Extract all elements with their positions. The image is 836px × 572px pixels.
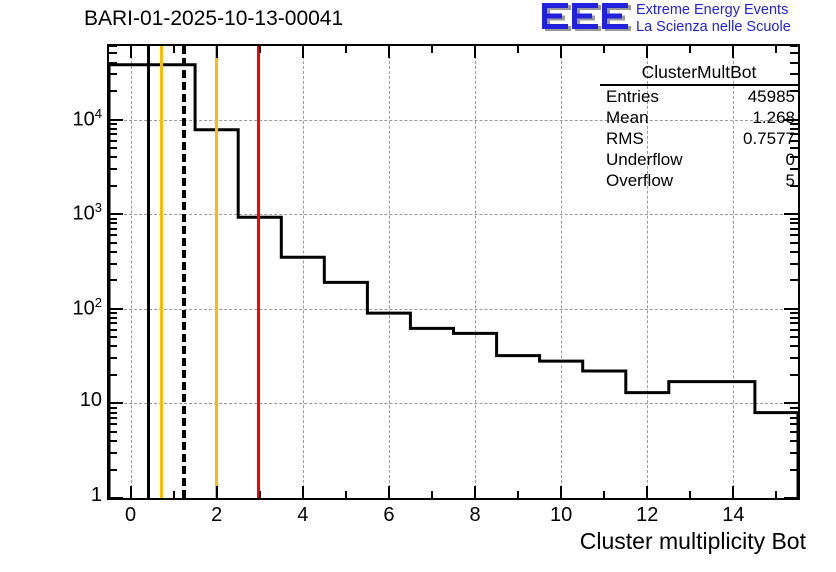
- x-tick-1: [173, 491, 175, 498]
- x-tick-14: [732, 486, 734, 498]
- x-tick-11: [603, 491, 605, 498]
- y-minor-tick-right: [790, 431, 798, 433]
- y-axis-tick-label: 10: [17, 389, 102, 412]
- y-tick-right-1e2: [784, 308, 798, 310]
- y-tick-1e3: [109, 213, 123, 215]
- x-tick-top-1: [173, 46, 175, 53]
- x-tick-8: [474, 486, 476, 498]
- y-minor-tick-right: [790, 263, 798, 265]
- stats-row-value: 5: [786, 170, 795, 191]
- y-minor-tick-right: [790, 407, 798, 409]
- y-minor-tick-right: [790, 322, 798, 324]
- y-minor-tick: [109, 222, 117, 224]
- y-minor-tick: [109, 440, 117, 442]
- y-minor-tick-right: [790, 228, 798, 230]
- y-tick-right-1e3: [784, 213, 798, 215]
- y-minor-tick: [109, 407, 117, 409]
- y-minor-tick: [109, 228, 117, 230]
- eee-logo-text: Extreme Energy Events La Scienza nelle S…: [636, 2, 836, 36]
- stats-row-value: 0.7577: [743, 128, 795, 149]
- x-tick-6: [388, 486, 390, 498]
- y-minor-tick-right: [790, 357, 798, 359]
- y-minor-tick: [109, 431, 117, 433]
- y-minor-tick-right: [790, 417, 798, 419]
- eee-logo-line1: Extreme Energy Events: [636, 2, 836, 19]
- y-minor-tick-right: [790, 423, 798, 425]
- y-minor-tick-right: [790, 452, 798, 454]
- x-tick-top-13: [689, 46, 691, 53]
- x-axis-tick-label: 2: [192, 504, 242, 527]
- x-tick-13: [689, 491, 691, 498]
- stats-row-key: Entries: [606, 86, 659, 107]
- y-minor-tick-right: [790, 251, 798, 253]
- y-minor-tick-right: [790, 336, 798, 338]
- y-minor-tick: [109, 133, 117, 135]
- stats-row: Mean1.268: [600, 107, 798, 128]
- x-tick-top-2: [216, 46, 218, 58]
- y-minor-tick: [109, 423, 117, 425]
- y-tick-1e0: [109, 497, 123, 499]
- y-minor-tick: [109, 317, 117, 319]
- x-axis-tick-label: 14: [708, 504, 758, 527]
- y-minor-tick: [109, 234, 117, 236]
- eee-logo-line2: La Scienza nelle Scuole: [636, 19, 836, 36]
- y-minor-tick-right: [790, 52, 798, 54]
- y-minor-tick: [109, 279, 117, 281]
- x-tick-top-4: [302, 46, 304, 58]
- y-minor-tick-right: [790, 312, 798, 314]
- y-minor-tick: [109, 336, 117, 338]
- y-minor-tick: [109, 156, 117, 158]
- stats-box: ClusterMultBot Entries45985Mean1.268RMS0…: [600, 62, 798, 191]
- y-minor-tick-right: [790, 45, 798, 47]
- stats-row-key: RMS: [606, 128, 644, 149]
- y-minor-tick: [109, 452, 117, 454]
- page-title: BARI-01-2025-10-13-00041: [84, 7, 343, 31]
- y-minor-tick: [109, 242, 117, 244]
- y-minor-tick: [109, 251, 117, 253]
- stats-row: Underflow0: [600, 149, 798, 170]
- y-minor-tick: [109, 417, 117, 419]
- y-minor-tick: [109, 345, 117, 347]
- x-axis-title: Cluster multiplicity Bot: [580, 528, 806, 555]
- y-minor-tick-right: [790, 329, 798, 331]
- y-minor-tick-right: [790, 222, 798, 224]
- x-tick-3: [259, 491, 261, 498]
- x-tick-9: [517, 491, 519, 498]
- y-minor-tick: [109, 374, 117, 376]
- y-tick-right-1e1: [784, 402, 798, 404]
- x-tick-12: [646, 486, 648, 498]
- x-tick-top-0: [130, 46, 132, 58]
- y-tick-1e2: [109, 308, 123, 310]
- y-minor-tick-right: [790, 218, 798, 220]
- eee-logo: Extreme Energy Events La Scienza nelle S…: [540, 2, 832, 38]
- stats-row-key: Overflow: [606, 170, 673, 191]
- x-tick-top-14: [732, 46, 734, 58]
- y-minor-tick: [109, 469, 117, 471]
- stats-title: ClusterMultBot: [600, 62, 798, 86]
- x-tick-top-10: [560, 46, 562, 58]
- stats-row: Overflow5: [600, 170, 798, 191]
- y-minor-tick: [109, 218, 117, 220]
- y-minor-tick-right: [790, 469, 798, 471]
- y-minor-tick: [109, 123, 117, 125]
- x-tick-4: [302, 486, 304, 498]
- x-tick-top-3: [259, 46, 261, 53]
- y-minor-tick: [109, 185, 117, 187]
- root-canvas: BARI-01-2025-10-13-00041: [0, 0, 836, 572]
- stats-row-key: Mean: [606, 107, 649, 128]
- x-tick-5: [345, 491, 347, 498]
- stats-row-value: 45985: [748, 86, 795, 107]
- x-tick-top-7: [431, 46, 433, 53]
- stats-row-key: Underflow: [606, 149, 683, 170]
- y-minor-tick-right: [790, 242, 798, 244]
- y-axis-tick-label: 104: [17, 106, 102, 132]
- y-axis-tick-label: 103: [17, 200, 102, 226]
- y-minor-tick-right: [790, 234, 798, 236]
- stats-row: RMS0.7577: [600, 128, 798, 149]
- y-minor-tick: [109, 52, 117, 54]
- y-minor-tick: [109, 128, 117, 130]
- x-tick-top-9: [517, 46, 519, 53]
- stats-row: Entries45985: [600, 86, 798, 107]
- y-minor-tick-right: [790, 440, 798, 442]
- y-minor-tick: [109, 90, 117, 92]
- y-tick-1e4: [109, 119, 123, 121]
- x-axis-tick-label: 4: [278, 504, 328, 527]
- x-tick-top-8: [474, 46, 476, 58]
- x-axis-tick-label: 8: [450, 504, 500, 527]
- y-minor-tick-right: [790, 317, 798, 319]
- x-axis-tick-label: 6: [364, 504, 414, 527]
- x-tick-top-15: [775, 46, 777, 53]
- y-minor-tick: [109, 147, 117, 149]
- x-tick-2: [216, 486, 218, 498]
- y-minor-tick: [109, 140, 117, 142]
- y-minor-tick: [109, 62, 117, 64]
- x-tick-top-5: [345, 46, 347, 53]
- y-minor-tick: [109, 322, 117, 324]
- x-axis-tick-label: 10: [536, 504, 586, 527]
- x-tick-10: [560, 486, 562, 498]
- y-tick-right-1e0: [784, 497, 798, 499]
- y-axis-tick-label: 102: [17, 295, 102, 321]
- x-tick-top-12: [646, 46, 648, 58]
- y-minor-tick-right: [790, 412, 798, 414]
- stats-rows: Entries45985Mean1.268RMS0.7577Underflow0…: [600, 86, 798, 191]
- y-minor-tick: [109, 168, 117, 170]
- y-minor-tick: [109, 357, 117, 359]
- x-tick-7: [431, 491, 433, 498]
- y-minor-tick-right: [790, 345, 798, 347]
- x-tick-15: [775, 491, 777, 498]
- y-minor-tick: [109, 412, 117, 414]
- x-tick-top-6: [388, 46, 390, 58]
- x-axis-tick-label: 0: [106, 504, 156, 527]
- y-minor-tick: [109, 329, 117, 331]
- y-tick-1e1: [109, 402, 123, 404]
- y-minor-tick-right: [790, 374, 798, 376]
- y-minor-tick: [109, 263, 117, 265]
- y-minor-tick: [109, 45, 117, 47]
- stats-row-value: 1.268: [752, 107, 795, 128]
- y-axis-tick-label: 1: [17, 484, 102, 507]
- stats-row-value: 0: [786, 149, 795, 170]
- eee-mark-icon: [540, 2, 632, 36]
- y-minor-tick-right: [790, 279, 798, 281]
- x-tick-0: [130, 486, 132, 498]
- y-minor-tick: [109, 312, 117, 314]
- x-axis-tick-label: 12: [622, 504, 672, 527]
- x-tick-top-11: [603, 46, 605, 53]
- y-minor-tick: [109, 73, 117, 75]
